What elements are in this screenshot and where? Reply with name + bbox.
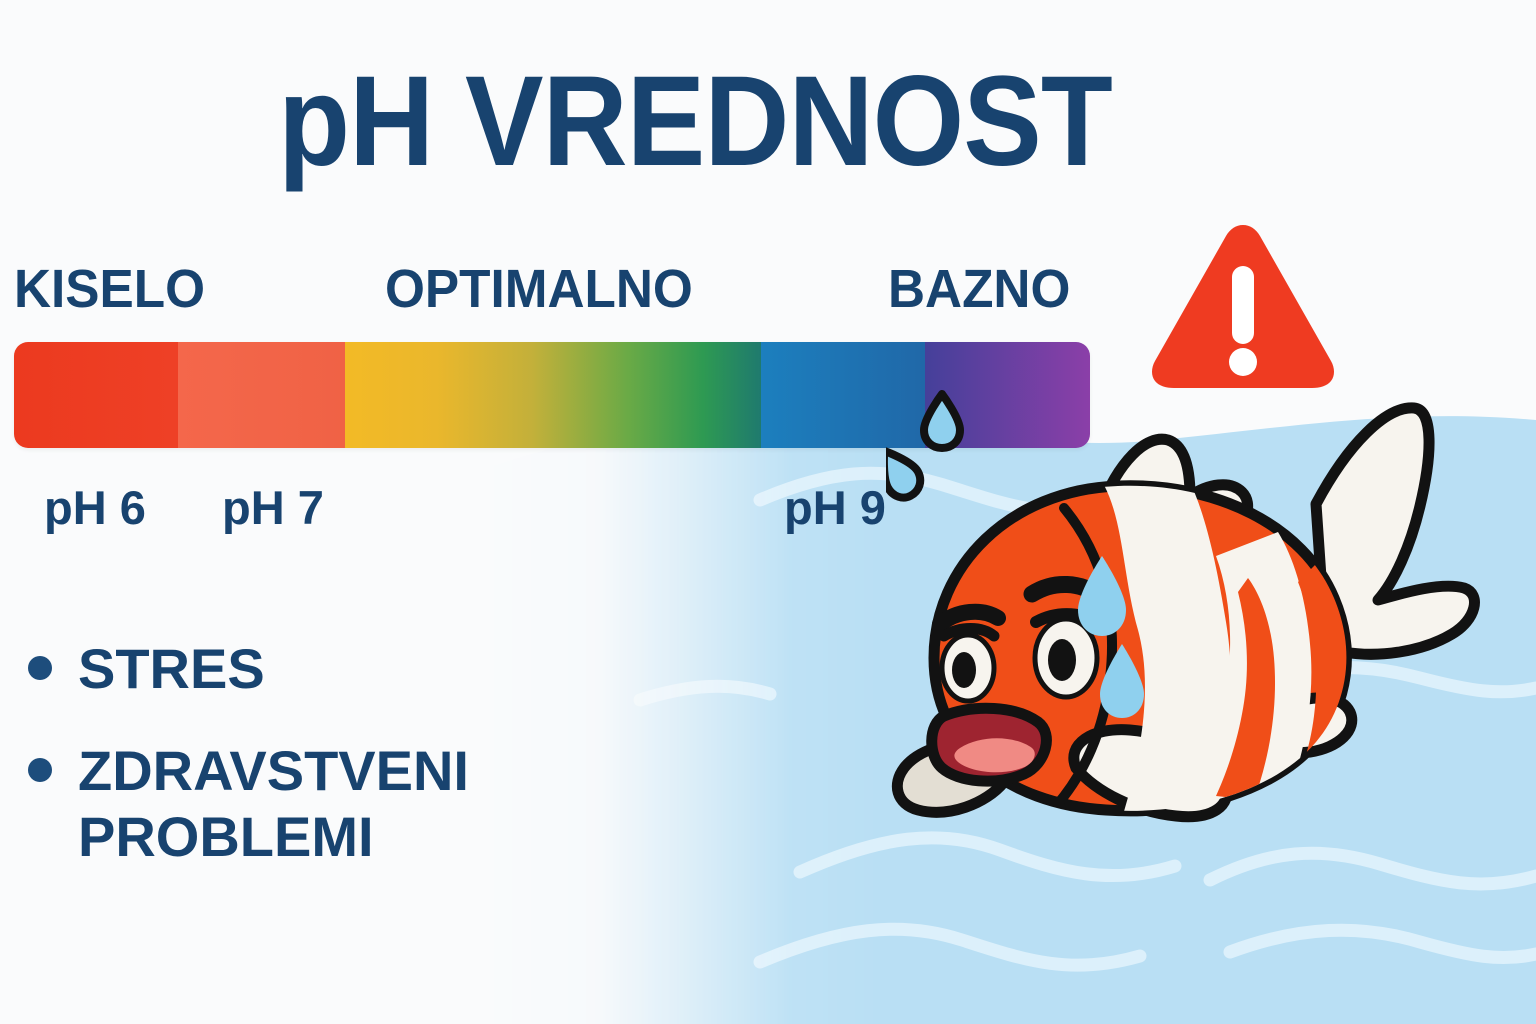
ph-segment-red xyxy=(14,342,178,448)
band-label-optimal: OPTIMALNO xyxy=(385,262,693,316)
ph-value-infographic: pH VREDNOST KISELO OPTIMALNO BAZNO pH 6 … xyxy=(0,0,1536,1024)
warning-triangle-icon xyxy=(1148,219,1338,389)
band-label-acidic: KISELO xyxy=(14,262,205,316)
band-label-basic: BAZNO xyxy=(888,262,1070,316)
list-item: STRES xyxy=(28,636,628,702)
ph-tick-9: pH 9 xyxy=(784,484,886,531)
ph-segment-orange xyxy=(178,342,345,448)
list-item-label: ZDRAVSTVENI PROBLEMI xyxy=(78,738,548,870)
stressed-fish-icon xyxy=(886,386,1506,846)
page-title: pH VREDNOST xyxy=(56,58,1335,186)
list-item: ZDRAVSTVENI PROBLEMI xyxy=(28,738,628,870)
list-item-label: STRES xyxy=(78,636,265,702)
bullet-dot-icon xyxy=(28,656,52,680)
ph-segment-yellow-green xyxy=(345,342,761,448)
effects-list: STRES ZDRAVSTVENI PROBLEMI xyxy=(28,636,628,906)
ph-tick-6: pH 6 xyxy=(44,484,146,531)
bullet-dot-icon xyxy=(28,758,52,782)
ph-tick-7: pH 7 xyxy=(222,484,324,531)
